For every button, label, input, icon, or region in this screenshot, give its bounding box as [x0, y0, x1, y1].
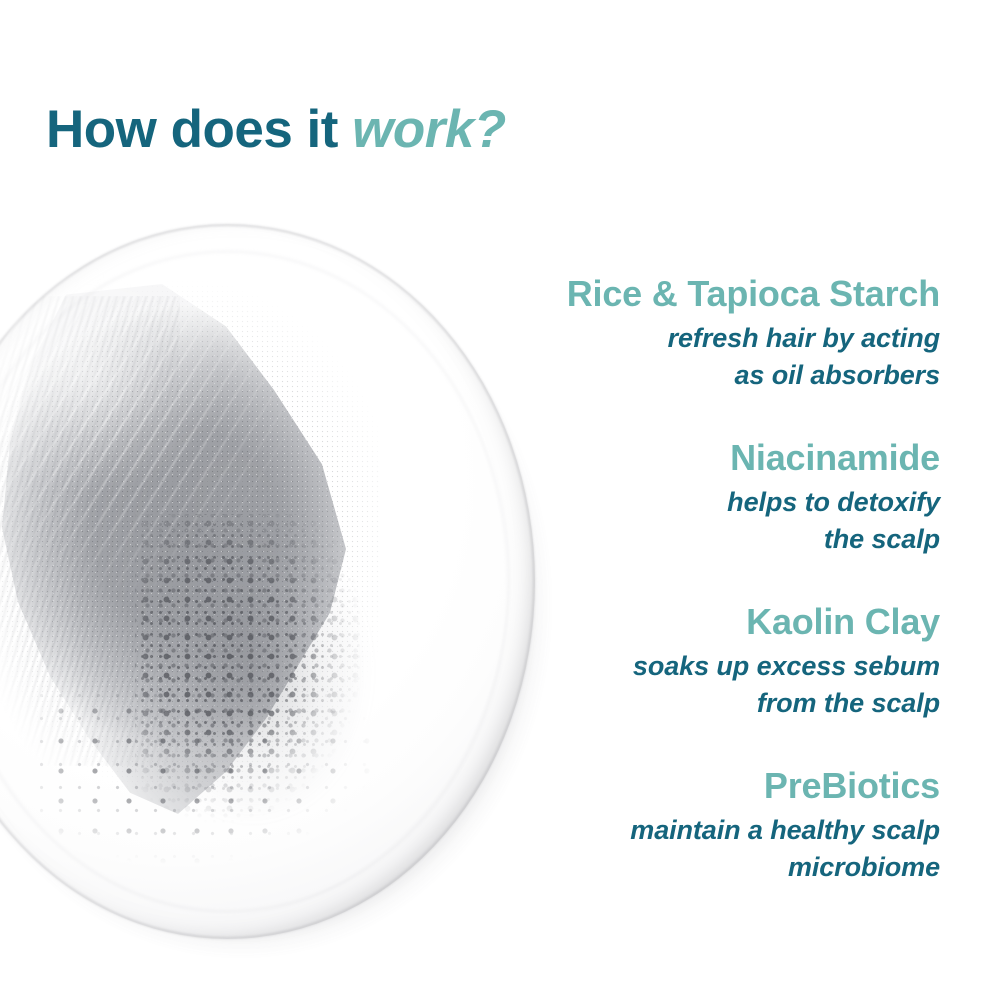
ingredient-item-prebiotics: PreBiotics maintain a healthy scalpmicro…	[420, 764, 940, 886]
ingredient-description: refresh hair by actingas oil absorbers	[420, 320, 940, 394]
page-title-plain: How does it	[46, 100, 352, 159]
page-title-accent: work?	[352, 100, 506, 159]
ingredient-description: maintain a healthy scalpmicrobiome	[420, 812, 940, 886]
ingredient-item-rice-tapioca-starch: Rice & Tapioca Starch refresh hair by ac…	[420, 272, 940, 394]
powder-scattered-specks	[40, 694, 370, 884]
page-title: How does it work?	[46, 99, 506, 161]
ingredient-name: Kaolin Clay	[420, 600, 940, 644]
ingredient-name: Rice & Tapioca Starch	[420, 272, 940, 316]
ingredient-description: soaks up excess sebumfrom the scalp	[420, 648, 940, 722]
ingredient-description: helps to detoxifythe scalp	[420, 484, 940, 558]
ingredient-name: PreBiotics	[420, 764, 940, 808]
ingredient-name: Niacinamide	[420, 436, 940, 480]
ingredient-item-niacinamide: Niacinamide helps to detoxifythe scalp	[420, 436, 940, 558]
ingredient-item-kaolin-clay: Kaolin Clay soaks up excess sebumfrom th…	[420, 600, 940, 722]
ingredient-list: Rice & Tapioca Starch refresh hair by ac…	[420, 272, 940, 886]
infographic-page: How does it work? Rice & Tapioca Starch …	[0, 0, 1000, 1000]
